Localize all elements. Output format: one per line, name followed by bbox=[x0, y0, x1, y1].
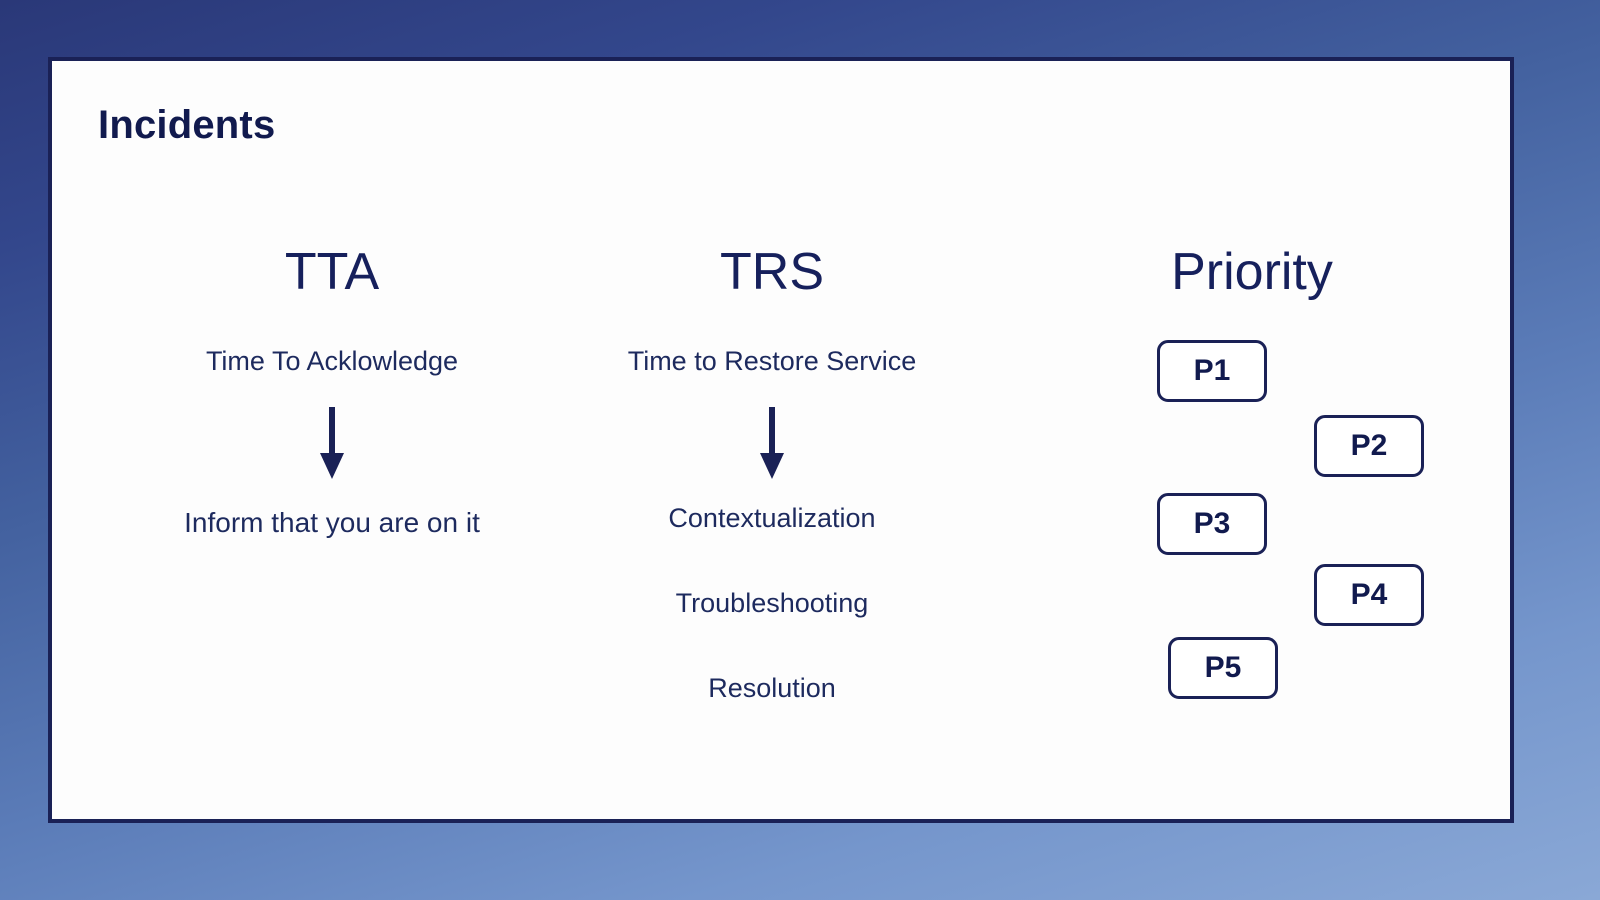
trs-arrow-wrap bbox=[532, 407, 1012, 479]
trs-step-2: Troubleshooting bbox=[532, 588, 1012, 619]
trs-step-1: Contextualization bbox=[532, 503, 1012, 534]
column-tta: TTA Time To Acklowledge Inform that you … bbox=[92, 246, 572, 539]
trs-heading: TRS bbox=[532, 246, 1012, 298]
trs-step-list: Contextualization Troubleshooting Resolu… bbox=[532, 503, 1012, 704]
tta-step-list: Inform that you are on it bbox=[92, 507, 572, 539]
page-title: Incidents bbox=[98, 103, 275, 148]
column-trs: TRS Time to Restore Service Contextualiz… bbox=[532, 246, 1012, 704]
priority-badge-p1[interactable]: P1 bbox=[1157, 340, 1267, 402]
trs-subtitle: Time to Restore Service bbox=[532, 346, 1012, 377]
tta-heading: TTA bbox=[92, 246, 572, 298]
priority-badge-p5[interactable]: P5 bbox=[1168, 637, 1278, 699]
slide-card: Incidents TTA Time To Acklowledge Inform… bbox=[48, 57, 1514, 823]
tta-arrow-wrap bbox=[92, 407, 572, 479]
priority-badge-list: P1 P2 P3 P4 P5 bbox=[1022, 340, 1482, 700]
priority-heading: Priority bbox=[1022, 246, 1482, 298]
column-priority: Priority P1 P2 P3 P4 P5 bbox=[1022, 246, 1482, 700]
priority-badge-p2[interactable]: P2 bbox=[1314, 415, 1424, 477]
tta-step-1: Inform that you are on it bbox=[92, 507, 572, 539]
priority-badge-p4[interactable]: P4 bbox=[1314, 564, 1424, 626]
trs-step-3: Resolution bbox=[532, 673, 1012, 704]
arrow-down-icon bbox=[319, 407, 345, 479]
tta-subtitle: Time To Acklowledge bbox=[92, 346, 572, 377]
arrow-down-icon bbox=[759, 407, 785, 479]
priority-badge-p3[interactable]: P3 bbox=[1157, 493, 1267, 555]
